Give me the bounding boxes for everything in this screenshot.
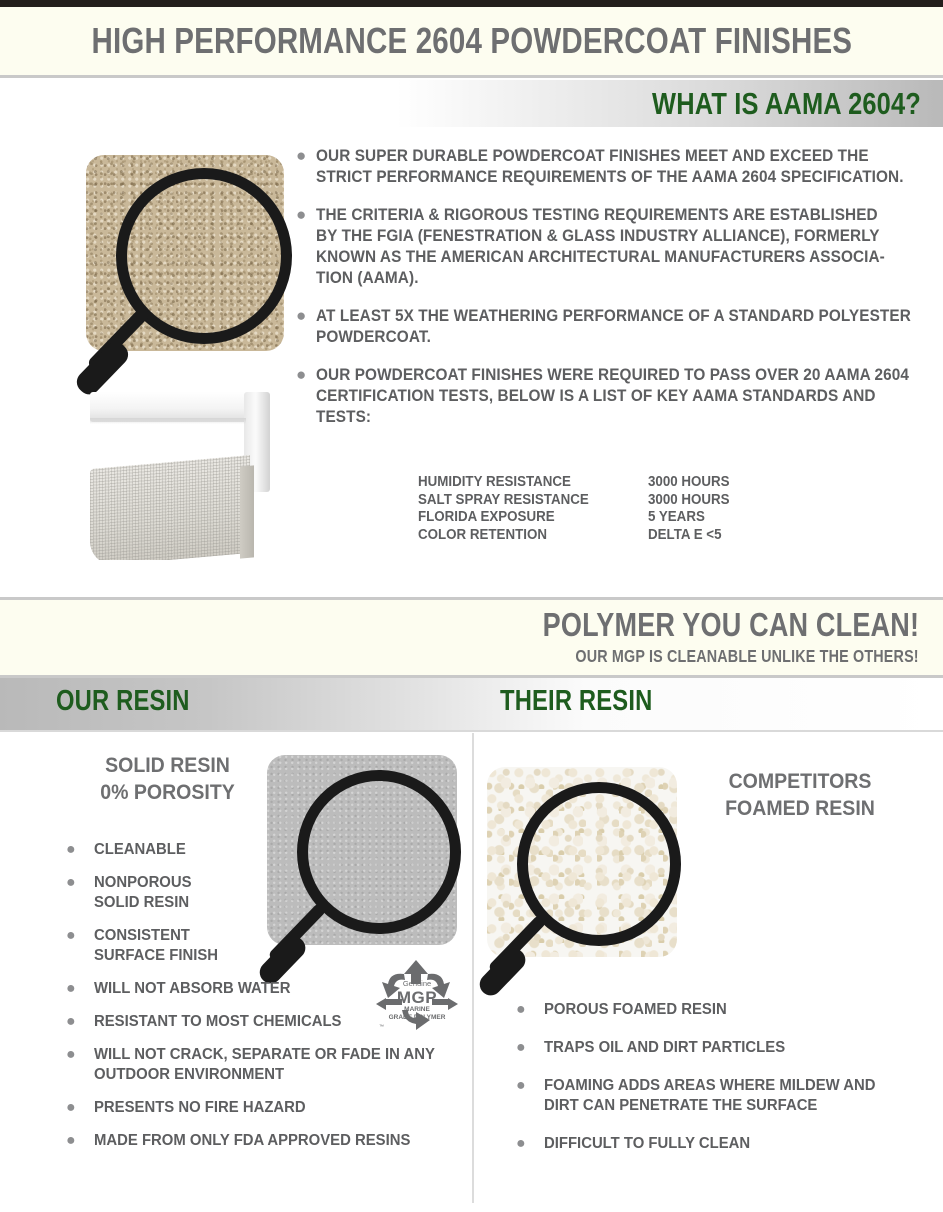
our-resin-title-line: SOLID RESIN [68,752,268,779]
bullet-line: AT LEAST 5X THE WEATHERING PERFORMANCE O… [316,306,911,327]
list-item: ● CONSISTENT SURFACE FINISH [60,926,460,966]
bullet-line: WILL NOT CRACK, SEPARATE OR FADE IN ANY [94,1045,435,1065]
list-item: ● RESISTANT TO MOST CHEMICALS [60,1012,460,1032]
list-item: ● MADE FROM ONLY FDA APPROVED RESINS [60,1131,460,1151]
bullet-dot: ● [292,306,316,348]
bullet-line: POROUS FOAMED RESIN [544,1000,727,1020]
foamed-resin-swatch [487,767,677,957]
bullet-line: FOAMING ADDS AREAS WHERE MILDEW AND [544,1076,875,1096]
bullet-line: TION (AAMA). [316,268,885,289]
spec-test-name: COLOR RETENTION [418,527,630,545]
bullet-line: KNOWN AS THE AMERICAN ARCHITECTURAL MANU… [316,247,885,268]
list-item: ● OUR POWDERCOAT FINISHES WERE REQUIRED … [292,365,932,428]
bullet-line: POWDERCOAT. [316,327,911,348]
list-item: ● POROUS FOAMED RESIN [510,1000,930,1020]
resin-comparison-band: OUR RESIN THEIR RESIN [0,678,943,730]
list-item: ● DIFFICULT TO FULLY CLEAN [510,1134,930,1154]
bullet-line: STRICT PERFORMANCE REQUIREMENTS OF THE A… [316,167,904,188]
bullet-dot: ● [292,205,316,289]
list-item: ● NONPOROUS SOLID RESIN [60,873,460,913]
our-resin-title-line: 0% POROSITY [68,779,268,806]
bullet-dot: ● [60,926,94,966]
page-title-band: HIGH PERFORMANCE 2604 POWDERCOAT FINISHE… [0,7,943,78]
bullet-dot: ● [292,365,316,428]
aama-heading: WHAT IS AAMA 2604? [652,86,921,122]
powdercoat-texture-swatch [86,155,284,351]
bullet-dot: ● [510,1038,544,1058]
bullet-dot: ● [510,1134,544,1154]
bullet-dot: ● [60,979,94,999]
bullet-line: TESTS: [316,407,909,428]
bullet-line: OUR SUPER DURABLE POWDERCOAT FINISHES ME… [316,146,904,167]
polymer-subheading: OUR MGP IS CLEANABLE UNLIKE THE OTHERS! [576,646,919,667]
top-accent-strip [0,0,943,7]
bullet-line: RESISTANT TO MOST CHEMICALS [94,1012,341,1032]
bullet-line: MADE FROM ONLY FDA APPROVED RESINS [94,1131,410,1151]
their-resin-title-line: FOAMED RESIN [698,795,903,822]
bullet-dot: ● [60,1131,94,1151]
our-resin-bullet-list: ● CLEANABLE ● NONPOROUS SOLID RESIN ● CO… [60,840,460,1164]
bullet-line: DIFFICULT TO FULLY CLEAN [544,1134,750,1154]
bullet-line: PRESENTS NO FIRE HAZARD [94,1098,306,1118]
aama-heading-band: WHAT IS AAMA 2604? [0,80,943,127]
spec-test-result: 5 YEARS [648,509,705,527]
table-row: FLORIDA EXPOSURE 5 YEARS [418,509,737,527]
bullet-line: CERTIFICATION TESTS, BELOW IS A LIST OF … [316,386,909,407]
spec-test-name: SALT SPRAY RESISTANCE [418,492,630,510]
polymer-heading-band: POLYMER YOU CAN CLEAN! OUR MGP IS CLEANA… [0,600,943,675]
table-row: SALT SPRAY RESISTANCE 3000 HOURS [418,492,737,510]
column-divider [472,733,474,1203]
their-resin-bullet-list: ● POROUS FOAMED RESIN ● TRAPS OIL AND DI… [510,1000,930,1167]
list-item: ● THE CRITERIA & RIGOROUS TESTING REQUIR… [292,205,932,289]
bullet-line: DIRT CAN PENETRATE THE SURFACE [544,1096,875,1116]
bullet-dot: ● [292,146,316,188]
spec-test-result: DELTA E <5 [648,527,722,545]
bullet-dot: ● [60,1045,94,1085]
list-item: ● AT LEAST 5X THE WEATHERING PERFORMANCE… [292,306,932,348]
their-resin-title-line: COMPETITORS [698,768,903,795]
table-row: COLOR RETENTION DELTA E <5 [418,527,737,545]
their-resin-title: COMPETITORS FOAMED RESIN [690,768,910,822]
spec-test-result: 3000 HOURS [648,474,730,492]
bullet-line: NONPOROUS [94,873,192,893]
spec-test-result: 3000 HOURS [648,492,730,510]
spec-test-name: HUMIDITY RESISTANCE [418,474,630,492]
list-item: ● PRESENTS NO FIRE HAZARD [60,1098,460,1118]
bullet-line: OUR POWDERCOAT FINISHES WERE REQUIRED TO… [316,365,909,386]
list-item: ● FOAMING ADDS AREAS WHERE MILDEW AND DI… [510,1076,930,1116]
bullet-dot: ● [60,840,94,860]
aama-standards-table: HUMIDITY RESISTANCE 3000 HOURS SALT SPRA… [418,474,737,544]
bullet-line: CONSISTENT [94,926,218,946]
list-item: ● WILL NOT ABSORB WATER [60,979,460,999]
bullet-line: THE CRITERIA & RIGOROUS TESTING REQUIREM… [316,205,885,226]
powdercoated-furniture-photo [90,388,270,560]
bullet-line: BY THE FGIA (FENESTRATION & GLASS INDUST… [316,226,885,247]
infographic-page: HIGH PERFORMANCE 2604 POWDERCOAT FINISHE… [0,0,943,1212]
spec-test-name: FLORIDA EXPOSURE [418,509,630,527]
bullet-dot: ● [510,1076,544,1116]
bullet-line: CLEANABLE [94,840,186,860]
polymer-heading: POLYMER YOU CAN CLEAN! [543,606,919,644]
our-resin-label: OUR RESIN [56,685,190,718]
bullet-line: SOLID RESIN [94,893,192,913]
bullet-line: SURFACE FINISH [94,946,218,966]
bullet-line: WILL NOT ABSORB WATER [94,979,290,999]
aama-bullet-list: ● OUR SUPER DURABLE POWDERCOAT FINISHES … [292,146,932,445]
page-title: HIGH PERFORMANCE 2604 POWDERCOAT FINISHE… [91,20,852,62]
bullet-dot: ● [510,1000,544,1020]
list-item: ● WILL NOT CRACK, SEPARATE OR FADE IN AN… [60,1045,460,1085]
our-resin-title: SOLID RESIN 0% POROSITY [60,752,275,806]
bullet-dot: ● [60,1012,94,1032]
bullet-line: OUTDOOR ENVIRONMENT [94,1065,435,1085]
bullet-line: TRAPS OIL AND DIRT PARTICLES [544,1038,785,1058]
their-resin-label: THEIR RESIN [500,685,652,718]
list-item: ● CLEANABLE [60,840,460,860]
list-item: ● TRAPS OIL AND DIRT PARTICLES [510,1038,930,1058]
bullet-dot: ● [60,1098,94,1118]
list-item: ● OUR SUPER DURABLE POWDERCOAT FINISHES … [292,146,932,188]
table-row: HUMIDITY RESISTANCE 3000 HOURS [418,474,737,492]
bullet-dot: ● [60,873,94,913]
resin-band-underline [0,730,943,732]
